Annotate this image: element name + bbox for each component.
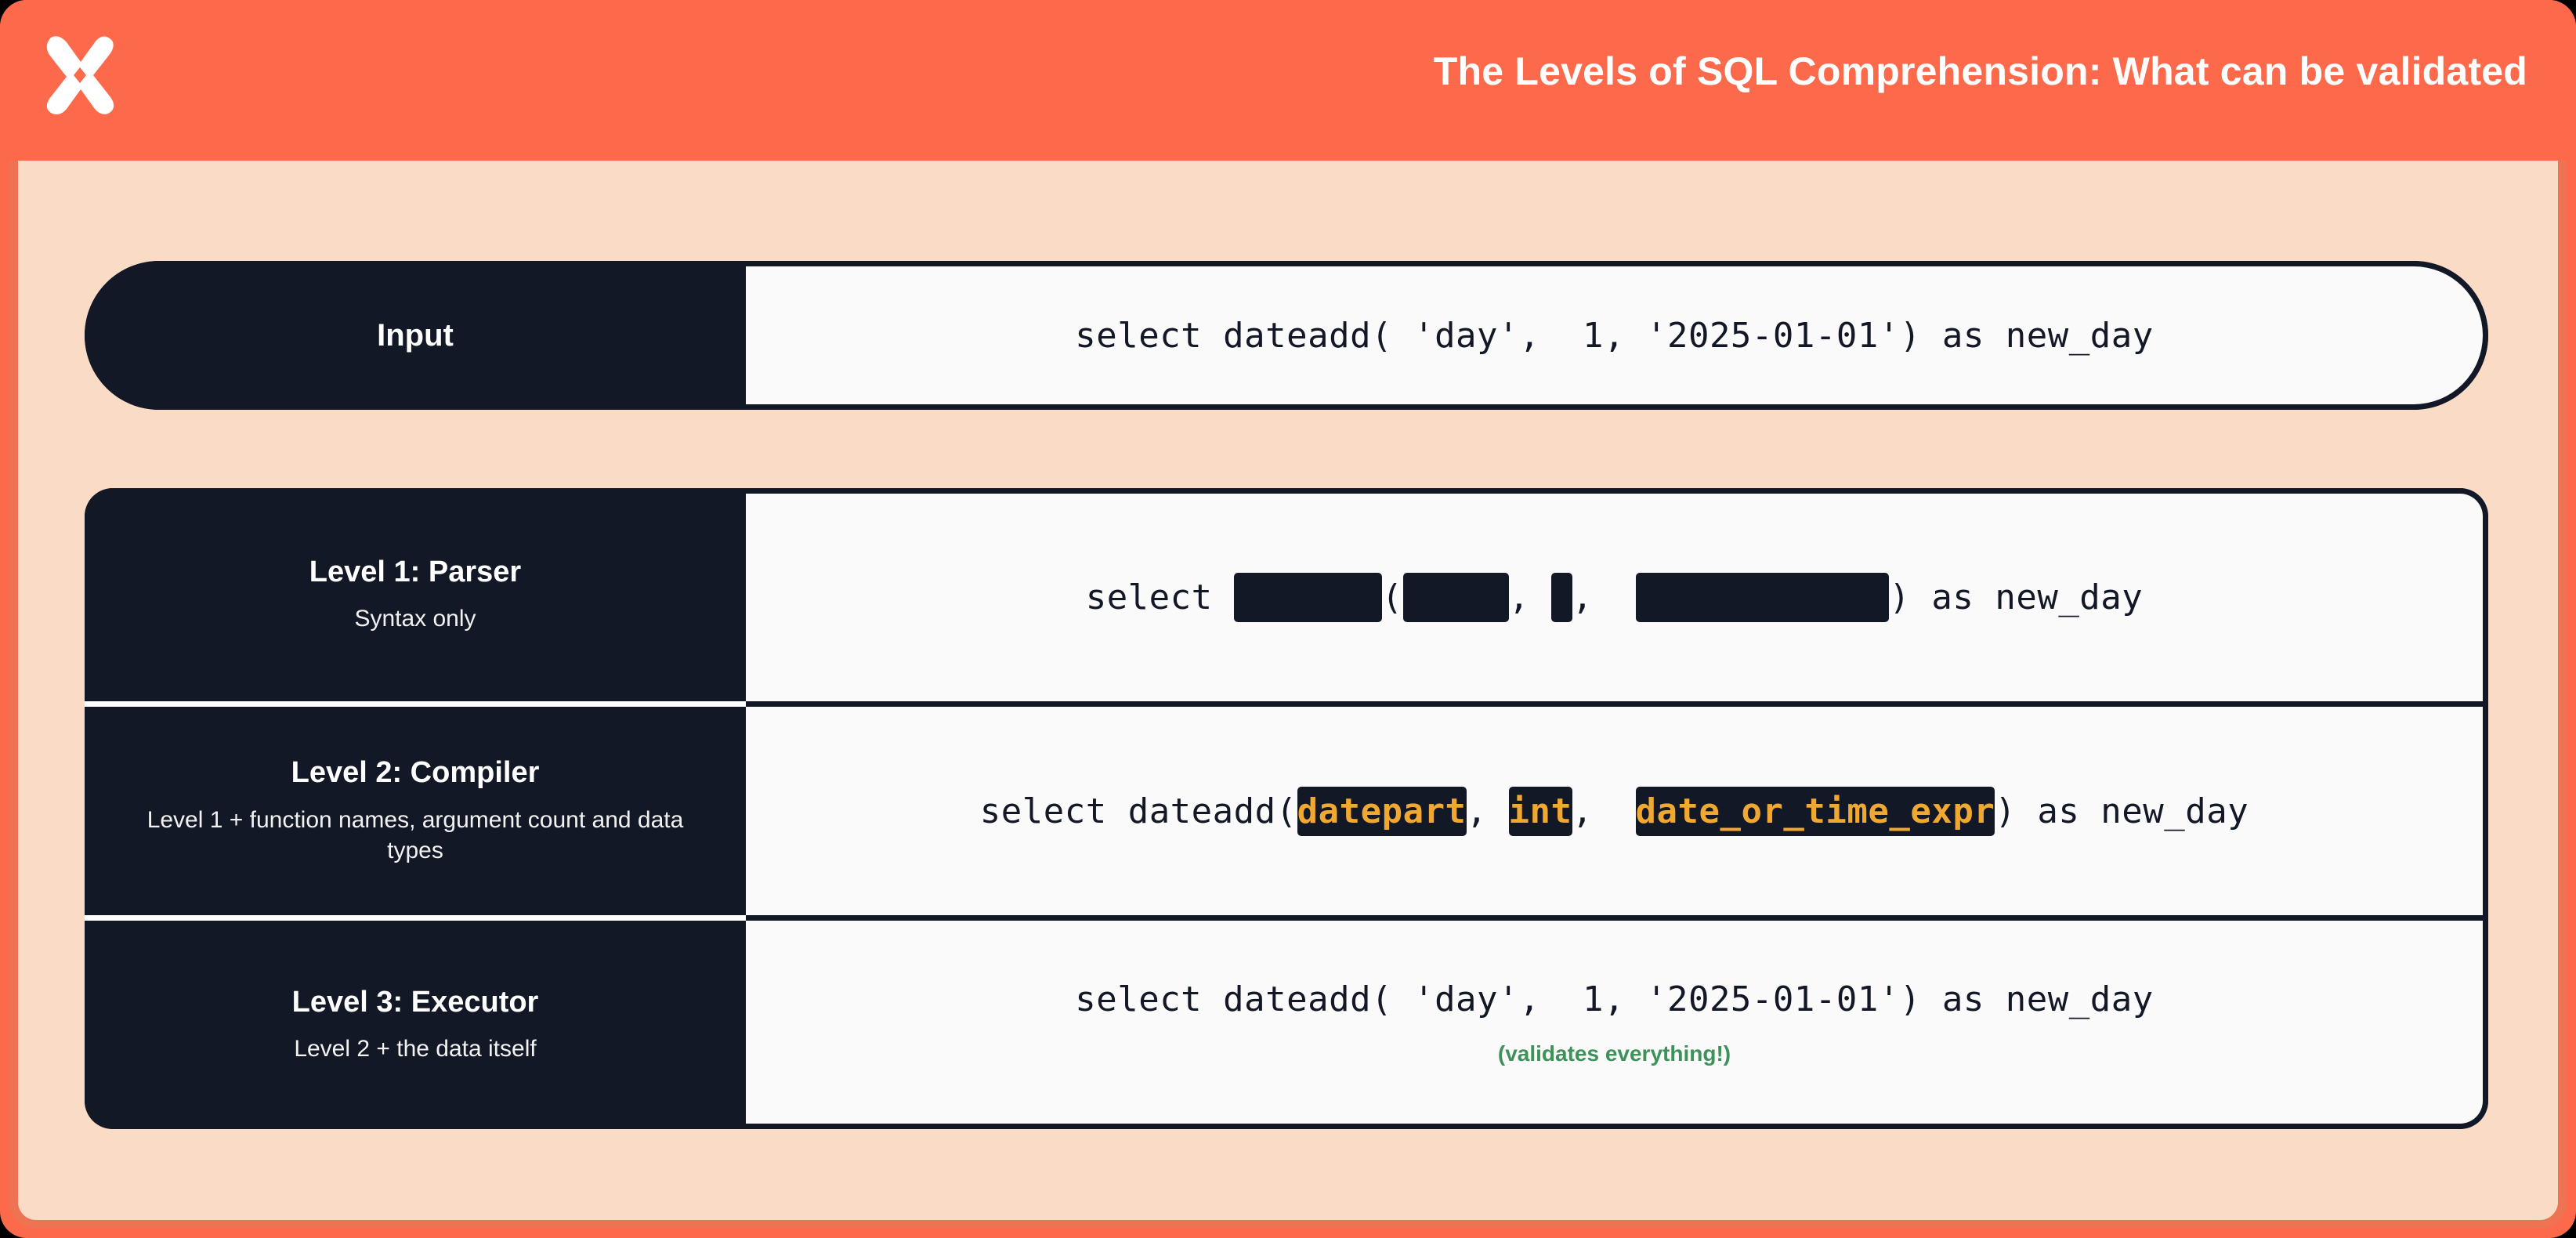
code-segment: ) as new_day (1889, 577, 2143, 617)
infographic-page: The Levels of SQL Comprehension: What ca… (0, 0, 2576, 1238)
levels-card: Level 1: Parser Syntax only select datea… (85, 488, 2488, 1129)
code-segment: , (1467, 791, 1509, 831)
level-row: Level 3: Executor Level 2 + the data its… (85, 915, 2488, 1129)
redacted-arg-2: 1 (1551, 573, 1572, 622)
code-segment: , (1509, 577, 1551, 617)
input-card-code-panel: select dateadd( 'day', 1, '2025-01-01') … (746, 261, 2488, 410)
level-3-annotation: (validates everything!) (1498, 1041, 1731, 1066)
level-2-label: Level 2: Compiler Level 1 + function nam… (85, 701, 746, 915)
level-1-subtitle: Syntax only (354, 603, 476, 634)
level-3-label: Level 3: Executor Level 2 + the data its… (85, 915, 746, 1129)
code-segment: ) as new_day (1995, 791, 2249, 831)
level-2-code-panel: select dateadd(datepart, int, date_or_ti… (746, 701, 2488, 915)
level-row: Level 1: Parser Syntax only select datea… (85, 488, 2488, 701)
level-3-code-panel: select dateadd( 'day', 1, '2025-01-01') … (746, 915, 2488, 1129)
level-2-subtitle: Level 1 + function names, argument count… (116, 805, 715, 866)
code-segment: ( (1382, 577, 1403, 617)
token-date-or-time-expr: date_or_time_expr (1636, 787, 1995, 836)
level-3-title: Level 3: Executor (292, 986, 539, 1020)
input-card: Input select dateadd( 'day', 1, '2025-01… (85, 261, 2488, 410)
page-title: The Levels of SQL Comprehension: What ca… (1434, 49, 2527, 94)
code-segment: select (1086, 577, 1234, 617)
page-header: The Levels of SQL Comprehension: What ca… (0, 0, 2576, 165)
level-3-sql-code: select dateadd( 'day', 1, '2025-01-01') … (1075, 978, 2154, 1021)
level-1-sql-code: select dateadd('day', 1, '2025-01-01') a… (1086, 576, 2144, 619)
input-sql-code: select dateadd( 'day', 1, '2025-01-01') … (1075, 314, 2154, 357)
token-datepart: datepart (1297, 787, 1467, 836)
redacted-arg-1: 'day' (1403, 573, 1509, 622)
level-row: Level 2: Compiler Level 1 + function nam… (85, 701, 2488, 915)
code-segment: , (1572, 577, 1636, 617)
level-2-title: Level 2: Compiler (291, 756, 540, 791)
level-1-title: Level 1: Parser (309, 556, 521, 590)
code-segment: select dateadd( (980, 791, 1297, 831)
token-int: int (1509, 787, 1572, 836)
redacted-function-name: dateadd (1234, 573, 1382, 622)
redacted-arg-3: '2025-01-01' (1636, 573, 1890, 622)
level-1-label: Level 1: Parser Syntax only (85, 488, 746, 701)
code-segment: , (1572, 791, 1636, 831)
level-3-subtitle: Level 2 + the data itself (294, 1033, 536, 1064)
input-card-label: Input (85, 261, 746, 410)
x-star-logo-icon (35, 28, 121, 114)
level-1-code-panel: select dateadd('day', 1, '2025-01-01') a… (746, 488, 2488, 701)
level-2-sql-code: select dateadd(datepart, int, date_or_ti… (980, 790, 2249, 833)
